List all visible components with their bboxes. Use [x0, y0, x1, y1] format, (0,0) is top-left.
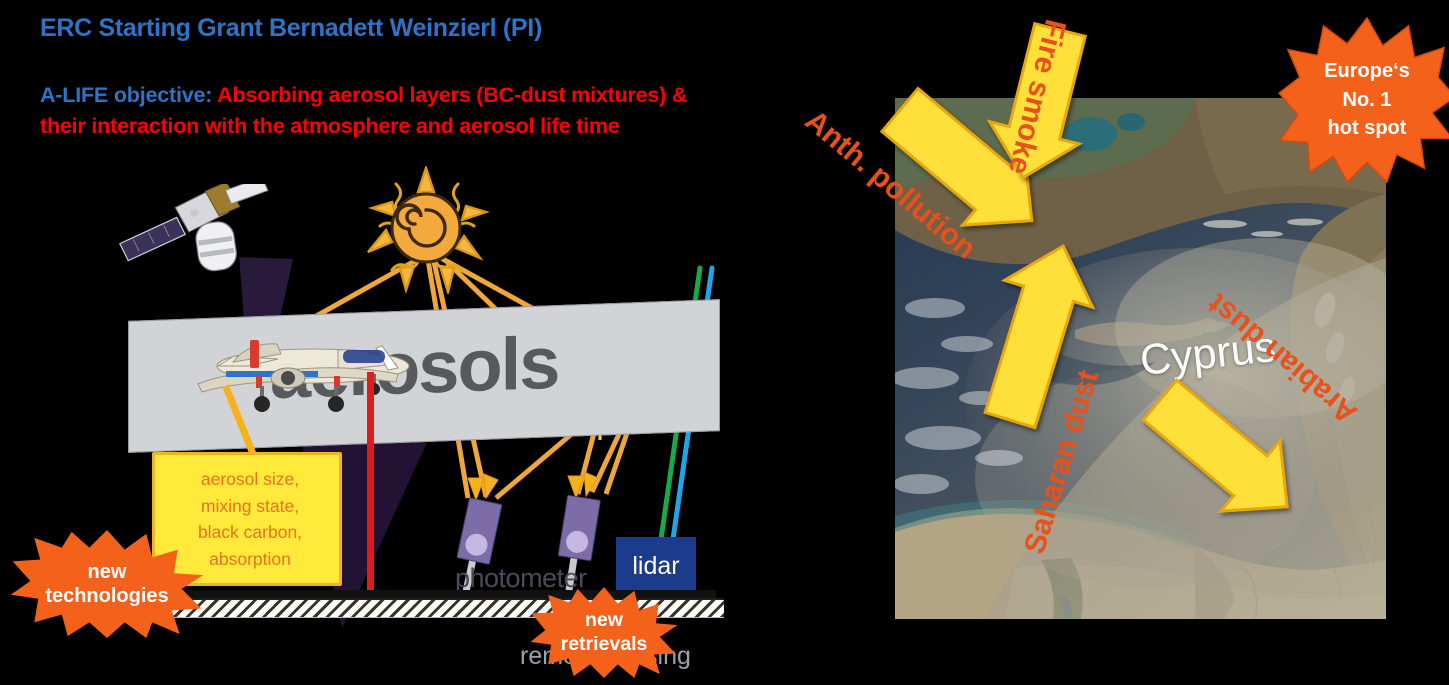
lidar-label: lidar — [632, 552, 679, 581]
burst-europe-hotspot: Europe‘s No. 1 hot spot — [1278, 16, 1449, 184]
arrow-arabian-dust — [1130, 365, 1316, 542]
concept-diagram-panel: ERC Starting Grant Bernadett Weinzierl (… — [0, 0, 760, 673]
burst-new-technologies: new technologies — [8, 528, 206, 640]
satellite-map-panel: Cyprus April 2017 Image credit: NASA Ear… — [760, 0, 1449, 673]
burst-new-retrievals: new retrievals — [528, 586, 680, 680]
research-aircraft-icon — [138, 326, 428, 426]
starburst-shape — [8, 528, 206, 640]
vertical-mast — [367, 372, 374, 600]
starburst-shape — [1278, 16, 1449, 184]
arrow-saharan-dust — [966, 233, 1107, 434]
sun-icon — [362, 166, 490, 294]
starburst-shape — [528, 586, 680, 680]
